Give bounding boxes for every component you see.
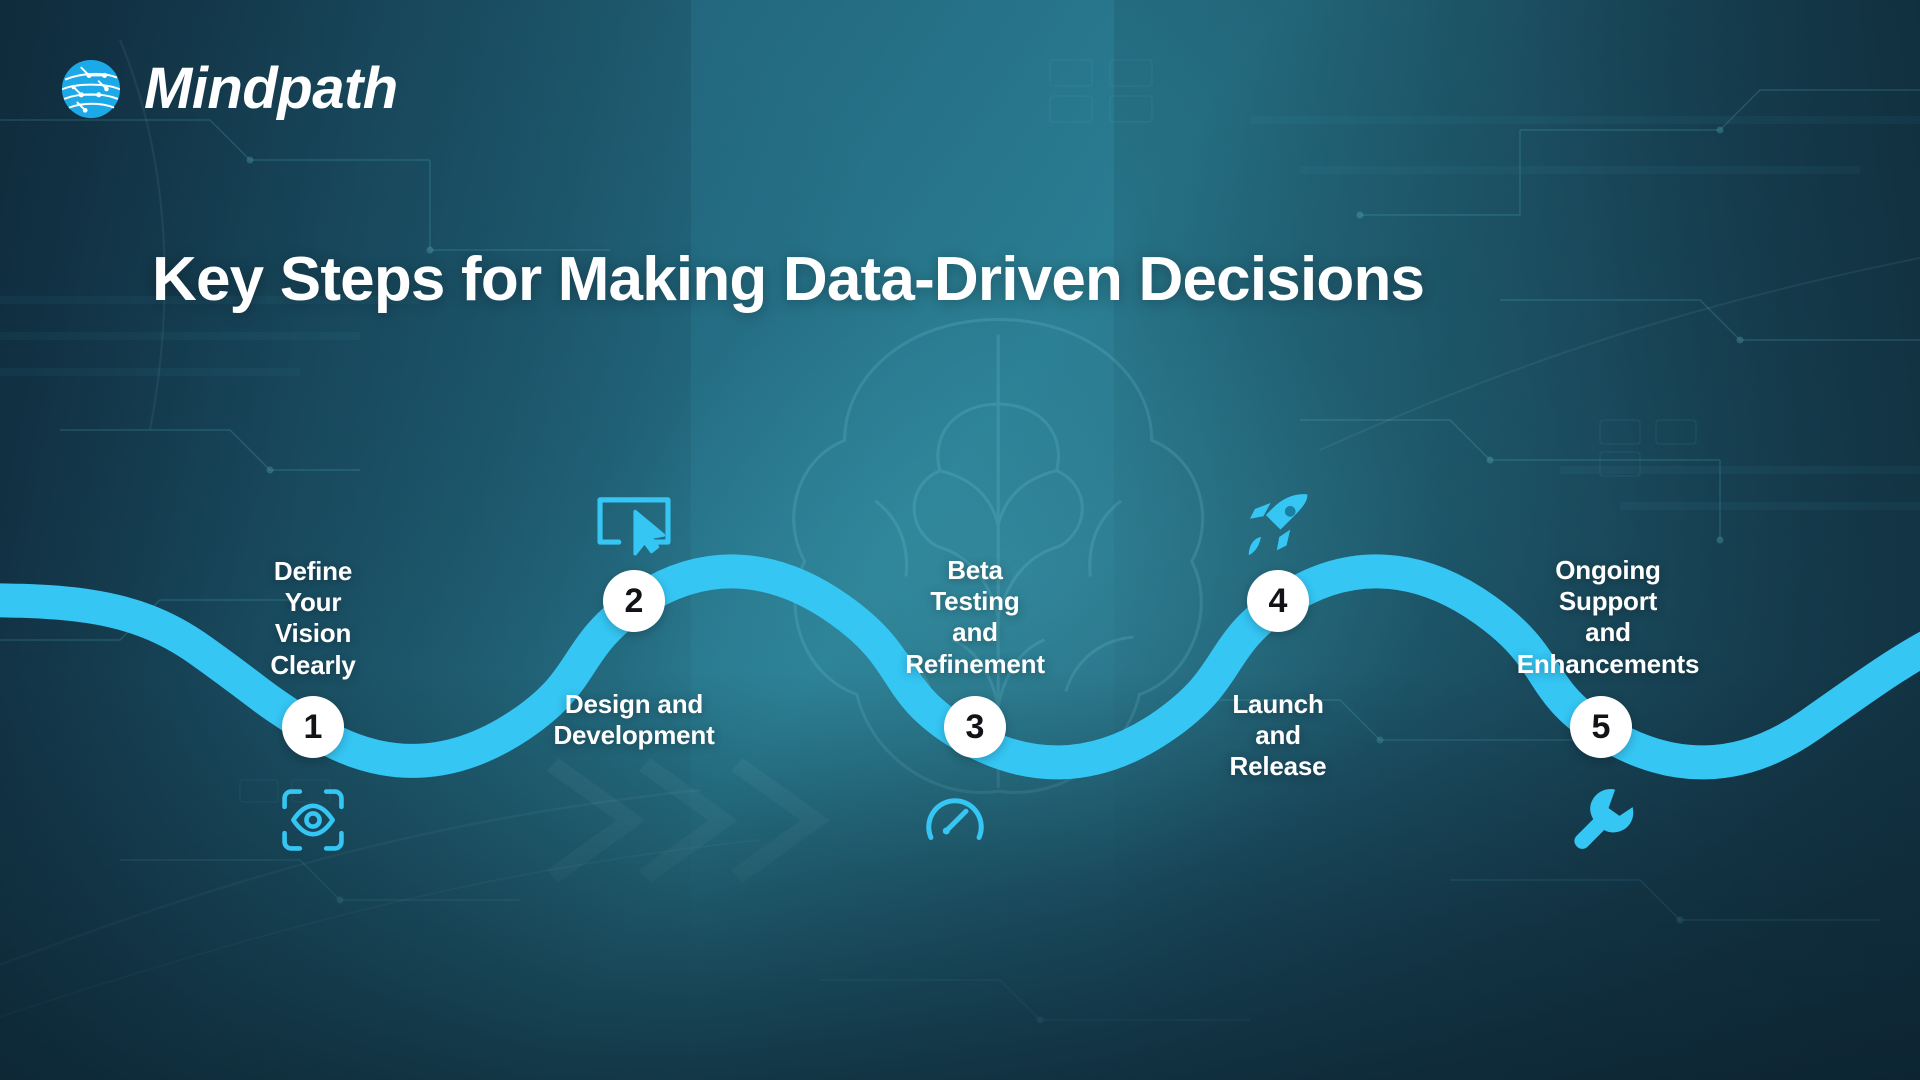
- rocket-icon: [1239, 487, 1317, 565]
- step-2-label: Design and Development: [553, 689, 714, 751]
- step-5-number[interactable]: 5: [1570, 696, 1632, 758]
- step-3-number[interactable]: 3: [944, 696, 1006, 758]
- step-4-label: Launch and Release: [1230, 689, 1327, 783]
- step-5-label: Ongoing Support and Enhancements: [1517, 555, 1700, 680]
- step-1-label: Define Your Vision Clearly: [270, 556, 355, 681]
- step-1-number[interactable]: 1: [282, 696, 344, 758]
- step-2-number[interactable]: 2: [603, 570, 665, 632]
- speedometer-icon: [920, 785, 990, 855]
- steps-container: Define Your Vision Clearly 1: [0, 0, 1920, 1080]
- step-4-number[interactable]: 4: [1247, 570, 1309, 632]
- step-3-label: Beta Testing and Refinement: [905, 555, 1045, 680]
- infographic-canvas: Mindpath Key Steps for Making Data-Drive…: [0, 0, 1920, 1080]
- wrench-icon: [1567, 783, 1637, 853]
- eye-scan-icon: [278, 785, 348, 855]
- screen-cursor-icon: [593, 487, 675, 569]
